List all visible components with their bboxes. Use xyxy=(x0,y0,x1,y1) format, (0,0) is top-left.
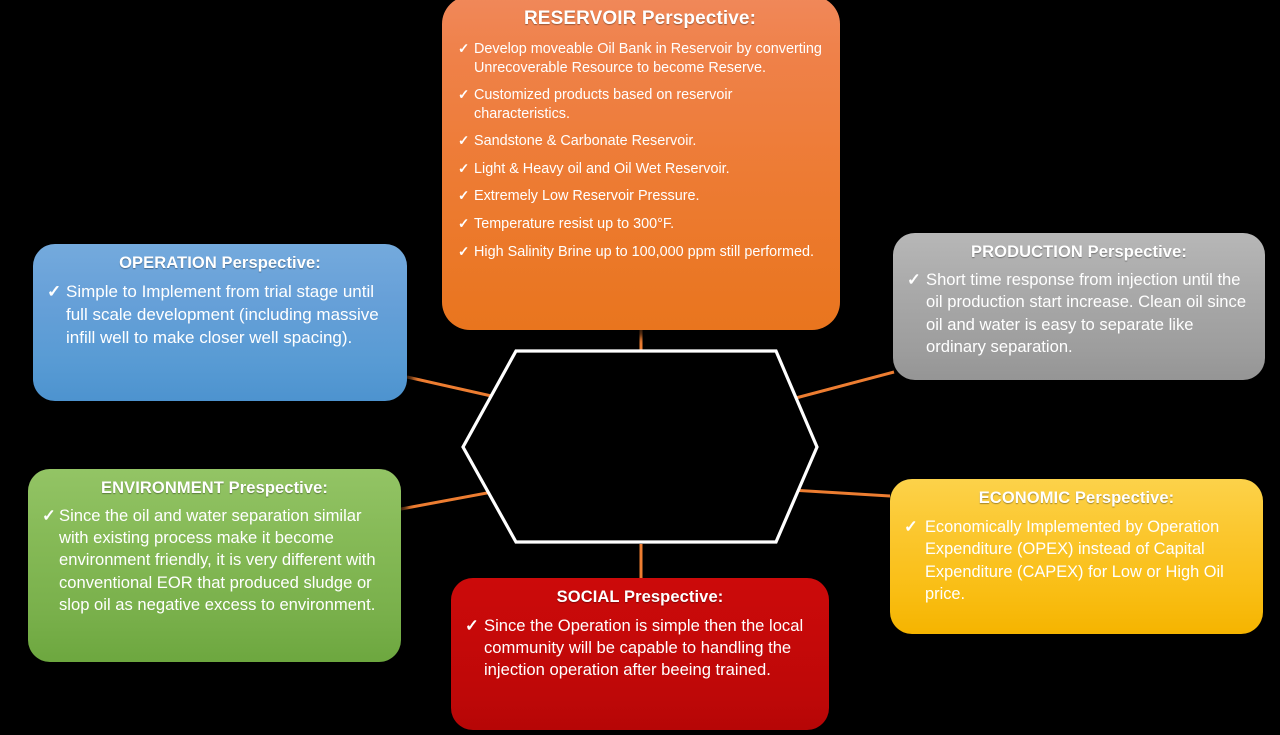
card-economic-title: ECONOMIC Perspective: xyxy=(904,489,1249,508)
list-item: ✓High Salinity Brine up to 100,000 ppm s… xyxy=(458,243,822,262)
bullet-text: Temperature resist up to 300°F. xyxy=(474,216,674,232)
check-icon: ✓ xyxy=(47,281,61,304)
check-icon: ✓ xyxy=(458,40,469,57)
list-item: ✓Extremely Low Reservoir Pressure. xyxy=(458,187,822,206)
bullet-text: Customized products based on reservoir c… xyxy=(474,87,732,122)
list-item: ✓Customized products based on reservoir … xyxy=(458,86,822,123)
connector-production xyxy=(792,372,894,399)
card-reservoir-bullets: ✓Develop moveable Oil Bank in Reservoir … xyxy=(458,40,822,261)
list-item: ✓Simple to Implement from trial stage un… xyxy=(47,281,393,349)
bullet-text: Short time response from injection until… xyxy=(926,270,1246,356)
card-social-bullets: ✓Since the Operation is simple then the … xyxy=(465,615,815,682)
card-production-bullets: ✓Short time response from injection unti… xyxy=(907,269,1251,359)
check-icon: ✓ xyxy=(458,187,469,204)
list-item: ✓Since the Operation is simple then the … xyxy=(465,615,815,682)
card-production-title: PRODUCTION Perspective: xyxy=(907,243,1251,262)
check-icon: ✓ xyxy=(458,243,469,260)
check-icon: ✓ xyxy=(458,86,469,103)
card-reservoir-title: RESERVOIR Perspective: xyxy=(458,8,822,30)
list-item: ✓Short time response from injection unti… xyxy=(907,269,1251,359)
card-social[interactable]: SOCIAL Prespective: ✓Since the Operation… xyxy=(451,578,829,730)
diagram-canvas: RESERVOIR Perspective: ✓Develop moveable… xyxy=(0,0,1280,735)
card-environment[interactable]: ENVIRONMENT Prespective: ✓Since the oil … xyxy=(28,469,401,662)
card-environment-bullets: ✓Since the oil and water separation simi… xyxy=(42,505,387,616)
bullet-text: Light & Heavy oil and Oil Wet Reservoir. xyxy=(474,161,730,177)
bullet-text: Extremely Low Reservoir Pressure. xyxy=(474,188,700,204)
center-hexagon xyxy=(463,351,817,542)
check-icon: ✓ xyxy=(458,215,469,232)
check-icon: ✓ xyxy=(458,160,469,177)
card-economic[interactable]: ECONOMIC Perspective: ✓Economically Impl… xyxy=(890,479,1263,634)
list-item: ✓Develop moveable Oil Bank in Reservoir … xyxy=(458,40,822,77)
card-operation-bullets: ✓Simple to Implement from trial stage un… xyxy=(47,281,393,349)
check-icon: ✓ xyxy=(904,516,918,538)
list-item: ✓Sandstone & Carbonate Reservoir. xyxy=(458,132,822,151)
list-item: ✓Temperature resist up to 300°F. xyxy=(458,215,822,234)
card-operation-title: OPERATION Perspective: xyxy=(47,254,393,273)
list-item: ✓Light & Heavy oil and Oil Wet Reservoir… xyxy=(458,160,822,179)
card-reservoir[interactable]: RESERVOIR Perspective: ✓Develop moveable… xyxy=(442,0,840,330)
bullet-text: Since the Operation is simple then the l… xyxy=(484,616,803,679)
card-social-title: SOCIAL Prespective: xyxy=(465,588,815,607)
check-icon: ✓ xyxy=(458,132,469,149)
bullet-text: Sandstone & Carbonate Reservoir. xyxy=(474,133,696,149)
card-environment-title: ENVIRONMENT Prespective: xyxy=(42,479,387,498)
card-production[interactable]: PRODUCTION Perspective: ✓Short time resp… xyxy=(893,233,1265,380)
bullet-text: Economically Implemented by Operation Ex… xyxy=(925,518,1224,603)
bullet-text: Since the oil and water separation simil… xyxy=(59,506,376,614)
card-operation[interactable]: OPERATION Perspective: ✓Simple to Implem… xyxy=(33,244,407,401)
list-item: ✓Since the oil and water separation simi… xyxy=(42,505,387,616)
bullet-text: High Salinity Brine up to 100,000 ppm st… xyxy=(474,244,814,260)
card-economic-bullets: ✓Economically Implemented by Operation E… xyxy=(904,516,1249,605)
check-icon: ✓ xyxy=(465,615,479,637)
list-item: ✓Economically Implemented by Operation E… xyxy=(904,516,1249,605)
check-icon: ✓ xyxy=(42,505,56,527)
connector-economic xyxy=(791,490,890,496)
bullet-text: Develop moveable Oil Bank in Reservoir b… xyxy=(474,41,822,76)
check-icon: ✓ xyxy=(907,269,921,291)
bullet-text: Simple to Implement from trial stage unt… xyxy=(66,282,379,347)
